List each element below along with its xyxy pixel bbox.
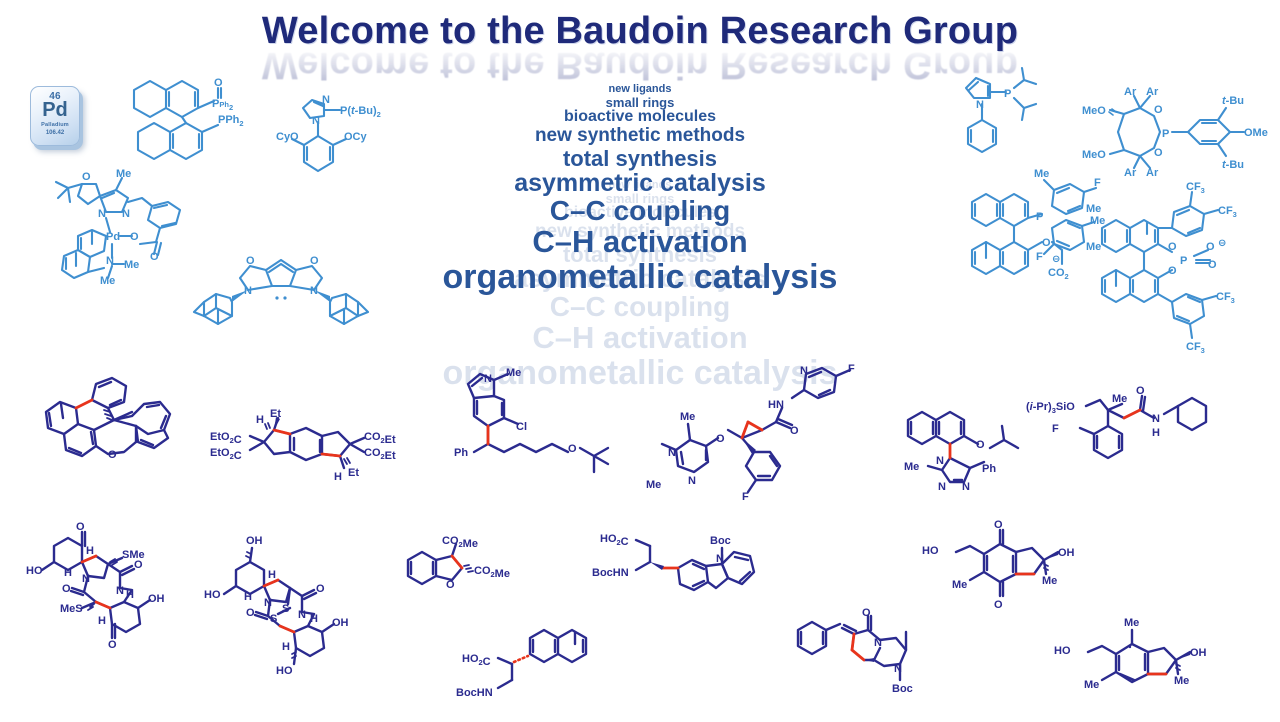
- label-o: O: [790, 425, 799, 437]
- bond-wedge: [864, 658, 874, 662]
- bond-highlight-red: [96, 602, 110, 608]
- molecule-naphthyl-triazole: O N N N Ph Me: [898, 392, 1038, 502]
- label-o: O: [246, 255, 255, 267]
- label-h: H: [64, 567, 72, 579]
- label-n: N: [312, 115, 320, 127]
- label-h: H: [282, 641, 290, 653]
- label-ocy: OCy: [344, 131, 368, 143]
- label-h: H: [244, 591, 252, 603]
- label-n: N: [688, 475, 696, 487]
- label-f: F: [1052, 423, 1059, 435]
- label-eto2c: EtO2C: [210, 447, 242, 462]
- label-h: H: [86, 545, 94, 557]
- label-o: O: [1136, 385, 1145, 397]
- molecule-benzylidene-diketopiperazine: O N N Boc: [790, 608, 970, 718]
- label-co2et: CO2Et: [364, 431, 396, 446]
- molecule-bis-oxazoline-adamantyl: O O N N: [186, 236, 376, 336]
- label-boc: Boc: [710, 535, 731, 547]
- label-ho: HO: [276, 665, 293, 677]
- label-o: O: [1208, 259, 1217, 271]
- poster-canvas: Welcome to the Baudoin Research Group We…: [0, 0, 1280, 722]
- label-cf3: CF3: [1216, 291, 1235, 305]
- bond-hash: [344, 458, 350, 464]
- molecule-bis-indane-tetraester: H Et EtO2C EtO2C CO2Et CO2Et H Et: [208, 410, 408, 490]
- label-o: O: [130, 231, 139, 243]
- element-symbol: Pd: [31, 101, 79, 119]
- molecule-bis-thiomethyl-dkp: O H SMe HO H N O O N H OH MeS H O: [38, 512, 218, 692]
- label-pd: Pd: [106, 231, 120, 243]
- wordcloud-item-ch-activation: C–H activation: [390, 226, 890, 259]
- label-o: O: [716, 433, 725, 445]
- molecule-indole-chloro-ether: N Me Cl Ph O: [452, 368, 662, 498]
- label-n: N: [976, 99, 984, 111]
- label-ar: Ar: [1124, 167, 1137, 179]
- label-p: P: [1036, 211, 1043, 223]
- label-f: F: [1036, 251, 1043, 263]
- label-ph: Ph: [454, 447, 468, 459]
- label-o: O: [1168, 265, 1177, 277]
- label-h: H: [334, 471, 342, 483]
- label-n: N: [484, 373, 492, 385]
- label-n: N: [668, 447, 676, 459]
- bond-highlight-red: [852, 650, 864, 660]
- label-n: N: [938, 481, 946, 493]
- molecule-benzofuran-diester: CO2Me CO2Me O: [398, 538, 548, 618]
- label-et: Et: [348, 467, 359, 479]
- label-oh: OH: [148, 593, 165, 605]
- label-me: Me: [124, 259, 139, 271]
- label-o: O: [862, 607, 871, 619]
- label-ho: HO: [1054, 645, 1071, 657]
- label-tips-o: (i-Pr)3SiO: [1026, 401, 1075, 415]
- label-cf3: CF3: [1218, 205, 1237, 219]
- label-me: Me: [1174, 675, 1189, 687]
- label-n: N: [116, 585, 124, 597]
- molecule-binol-phosphate: O O P O ⊖ O CF3 CF3 CF3 CF3: [1098, 192, 1278, 362]
- label-me: Me: [1034, 168, 1049, 180]
- label-me: Me: [1112, 393, 1127, 405]
- wordcloud-item-cc-coupling: C–C coupling: [390, 196, 890, 226]
- label-me: Me: [100, 275, 115, 287]
- label-o: O: [976, 439, 985, 451]
- label-boc: Boc: [892, 683, 913, 695]
- label-ho: HO: [204, 589, 221, 601]
- wordcloud-item-new-ligands: new ligands: [390, 84, 890, 96]
- molecule-naphthyl-amino-acid: HO2C BocHN: [458, 618, 628, 708]
- wordcloud-item-small-rings: small rings: [390, 96, 890, 110]
- molecule-spiro-xanthene: O: [36, 372, 196, 490]
- label-o: O: [1154, 104, 1163, 116]
- label-o: O: [214, 77, 223, 89]
- label-o: O: [310, 255, 319, 267]
- label-oh: OH: [1190, 647, 1207, 659]
- label-o-anion: O: [1206, 241, 1215, 253]
- label-o: O: [1154, 147, 1163, 159]
- label-n: N: [264, 597, 272, 609]
- label-ho: HO: [26, 565, 43, 577]
- molecule-pyrrolyl-diisopropylphosphine: N P: [952, 76, 1072, 186]
- label-eto2c: EtO2C: [210, 431, 242, 446]
- wordcloud-item-organometallic-catalysis: organometallic catalysis: [390, 259, 890, 295]
- label-p: P: [1180, 255, 1187, 267]
- label-o: O: [1168, 241, 1177, 253]
- label-tbu: t-Bu: [1222, 95, 1244, 107]
- element-name: Palladium: [31, 122, 79, 128]
- label-me: Me: [1124, 617, 1139, 629]
- label-o: O: [246, 607, 255, 619]
- label-n: N: [874, 637, 882, 649]
- wordcloud: new ligands small rings bioactive molecu…: [390, 84, 890, 295]
- label-co2et: CO2Et: [364, 447, 396, 462]
- label-o: O: [62, 583, 71, 595]
- label-f: F: [742, 491, 749, 503]
- label-negative-charge: ⊖: [1218, 238, 1226, 249]
- label-meo: MeO: [1082, 149, 1106, 161]
- label-n: N: [82, 573, 90, 585]
- bond-highlight-red: [274, 430, 290, 434]
- label-n: N: [894, 663, 902, 675]
- wordcloud-item-asymmetric-catalysis: asymmetric catalysis: [390, 170, 890, 197]
- bond-highlight-red: [280, 626, 294, 632]
- molecule-binaphthyl-phosphine-carboxylate: P Me F Me Me F Me O CO2 ⊖: [930, 180, 1120, 320]
- label-n: N: [716, 553, 724, 565]
- bond-hash: [265, 423, 270, 429]
- label-ho2c: HO2C: [600, 533, 629, 548]
- wordcloud-item-new-synthetic-methods: new synthetic methods: [390, 126, 890, 146]
- label-o: O: [568, 443, 577, 455]
- label-co2me: CO2Me: [442, 535, 478, 550]
- molecule-indane-diol: HO Me Me OH Me: [1050, 614, 1240, 714]
- label-ho: HO: [922, 545, 939, 557]
- label-n: N: [122, 208, 130, 220]
- label-bochn: BocHN: [456, 687, 493, 699]
- label-h: H: [98, 615, 106, 627]
- bond-highlight-red: [1124, 410, 1140, 418]
- label-me: Me: [116, 168, 131, 180]
- label-me: Me: [680, 411, 695, 423]
- label-o: O: [1042, 237, 1051, 249]
- label-o: O: [134, 559, 143, 571]
- label-p-tbu2: P(t-Bu)2: [340, 105, 381, 119]
- bond-highlight-red-hashed: [514, 656, 528, 662]
- label-o: O: [446, 579, 455, 591]
- label-ar: Ar: [1124, 86, 1137, 98]
- label-cf3: CF3: [1186, 341, 1205, 355]
- bond-wedge: [650, 562, 664, 570]
- label-co2me: CO2Me: [474, 565, 510, 580]
- label-oh: OH: [246, 535, 263, 547]
- label-me: Me: [1084, 679, 1099, 691]
- bond-highlight-red: [852, 634, 854, 650]
- label-ph: Ph: [982, 463, 996, 475]
- label-n: N: [106, 255, 114, 267]
- label-bochn: BocHN: [592, 567, 629, 579]
- label-n: N: [310, 285, 318, 297]
- label-n: N: [1152, 413, 1160, 425]
- bond-highlight-red: [76, 400, 92, 408]
- label-ar: Ar: [1146, 86, 1159, 98]
- label-ar: Ar: [1146, 167, 1159, 179]
- label-ho2c: HO2C: [462, 653, 491, 668]
- molecule-epidithio-dkp: OH H HO H N O S S O N H OH H HO: [216, 534, 406, 714]
- label-s: S: [270, 613, 277, 625]
- element-atomic-mass: 106.42: [31, 130, 79, 136]
- label-o: O: [108, 639, 117, 651]
- label-tbu: t-Bu: [1222, 159, 1244, 171]
- label-pph2: PPh2: [212, 98, 233, 112]
- wordcloud-reflection-item: C–C coupling: [390, 292, 890, 322]
- label-cyo: CyO: [276, 131, 299, 143]
- label-n: N: [322, 94, 330, 106]
- label-n: N: [936, 455, 944, 467]
- label-oh: OH: [1058, 547, 1075, 559]
- label-co2-minus: CO2: [1048, 267, 1069, 281]
- bond-hash: [464, 565, 473, 572]
- label-h: H: [126, 589, 134, 601]
- label-meo: MeO: [1082, 105, 1106, 117]
- label-f: F: [848, 363, 855, 375]
- bond-highlight-red: [748, 422, 762, 430]
- label-mes: MeS: [60, 603, 83, 615]
- label-o: O: [76, 521, 85, 533]
- molecule-tips-amide: (i-Pr)3SiO Me O F N H: [1030, 384, 1250, 494]
- molecule-indanone-quinone: O HO OH Me Me O: [918, 520, 1108, 620]
- label-f: F: [1094, 177, 1101, 189]
- label-h: H: [256, 414, 264, 426]
- label-negative-charge: ⊖: [1052, 254, 1060, 265]
- label-o: O: [994, 599, 1003, 611]
- bond-highlight-red: [452, 556, 462, 568]
- label-p: P: [1162, 128, 1169, 140]
- label-o: O: [82, 171, 91, 183]
- wordcloud-reflection-item: C–H activation: [390, 322, 890, 355]
- label-cl: Cl: [516, 421, 527, 433]
- label-o: O: [316, 583, 325, 595]
- label-n: N: [98, 208, 106, 220]
- label-o: O: [150, 251, 159, 263]
- wordcloud-item-total-synthesis: total synthesis: [390, 147, 890, 170]
- label-o: O: [108, 449, 117, 461]
- wordcloud-item-bioactive-molecules: bioactive molecules: [390, 109, 890, 126]
- label-h: H: [310, 613, 318, 625]
- label-me: Me: [952, 579, 967, 591]
- molecule-imidazolyl-phosphine: N N P(t-Bu)2 CyO OCy: [290, 98, 420, 188]
- label-p: P: [1004, 88, 1011, 100]
- label-n: N: [298, 609, 306, 621]
- molecule-cyclopropane-carboxamide: N F HN O O Me N N Me F: [660, 366, 880, 506]
- label-oh: OH: [332, 617, 349, 629]
- bond-wedge: [742, 438, 756, 454]
- label-me: Me: [506, 367, 521, 379]
- label-hn: HN: [768, 399, 784, 411]
- label-n: N: [962, 481, 970, 493]
- label-h: H: [268, 569, 276, 581]
- label-ome: OMe: [1244, 127, 1268, 139]
- label-o: O: [994, 519, 1003, 531]
- label-pph2: PPh2: [218, 114, 244, 128]
- label-me: Me: [1042, 575, 1057, 587]
- label-me: Me: [646, 479, 661, 491]
- label-n: N: [800, 365, 808, 377]
- label-me: Me: [904, 461, 919, 473]
- bond-highlight-red: [322, 454, 340, 456]
- label-h: H: [1152, 427, 1160, 439]
- label-n: N: [244, 285, 252, 297]
- palladium-element-tile: 46 Pd Palladium 106.42: [26, 84, 84, 150]
- label-et: Et: [270, 408, 281, 420]
- label-s: S: [282, 603, 289, 615]
